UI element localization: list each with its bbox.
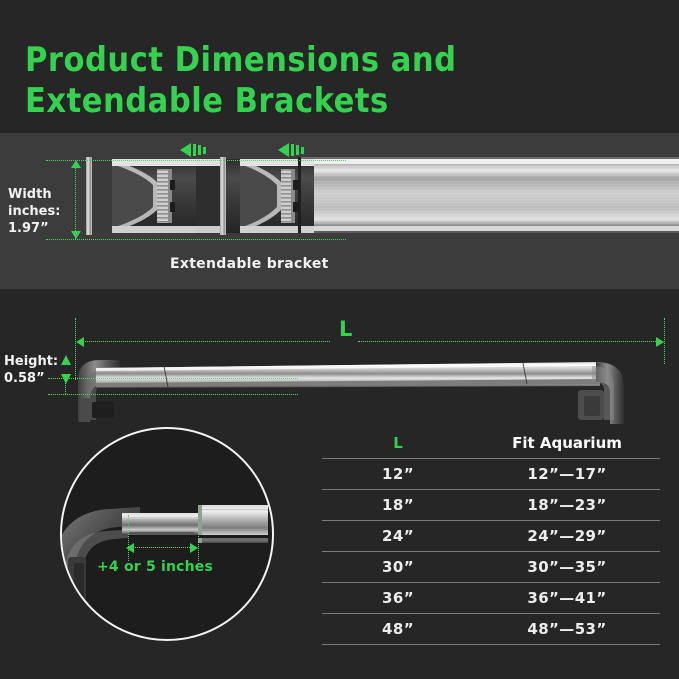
cell-length: 36” bbox=[322, 589, 474, 607]
cell-fit: 36”—41” bbox=[474, 589, 660, 607]
table-header-fit: Fit Aquarium bbox=[474, 434, 660, 452]
table-header-row: L Fit Aquarium bbox=[322, 428, 660, 458]
height-label: Height: 0.58” bbox=[4, 353, 58, 387]
table-separator bbox=[322, 644, 660, 645]
motion-bar-2 bbox=[198, 145, 201, 155]
extension-detail-illustration bbox=[62, 429, 268, 635]
cell-fit: 18”—23” bbox=[474, 496, 660, 514]
width-arrow-down-icon bbox=[71, 231, 81, 239]
table-header-length: L bbox=[322, 434, 474, 452]
motion-bar-1 bbox=[291, 144, 294, 156]
length-dimension-line-left bbox=[80, 341, 330, 342]
size-chart-table: L Fit Aquarium 12” 12”—17” 18” 18”—23” 2… bbox=[322, 428, 660, 645]
page-title-line-2: Extendable Brackets bbox=[25, 81, 645, 122]
table-row: 12” 12”—17” bbox=[322, 459, 660, 489]
triangle-left-icon bbox=[278, 143, 289, 157]
cell-length: 18” bbox=[322, 496, 474, 514]
extension-amount-caption: +4 or 5 inches bbox=[97, 559, 213, 575]
table-row: 18” 18”—23” bbox=[322, 490, 660, 520]
length-extension-right bbox=[664, 318, 665, 364]
table-row: 30” 30”—35” bbox=[322, 552, 660, 582]
cell-length: 24” bbox=[322, 527, 474, 545]
length-extension-left bbox=[75, 318, 76, 380]
width-label-line-1: Width bbox=[8, 186, 60, 203]
motion-bar-3 bbox=[301, 147, 304, 154]
table-row: 24” 24”—29” bbox=[322, 521, 660, 551]
extension-arrow-right-icon bbox=[190, 543, 198, 553]
width-arrow-up-icon bbox=[71, 160, 81, 168]
extension-arrow-left-icon bbox=[126, 543, 134, 553]
motion-bar-2 bbox=[296, 145, 299, 155]
height-label-line-1: Height: bbox=[4, 353, 58, 370]
width-label-line-2: inches: bbox=[8, 203, 60, 220]
extendable-bracket-caption: Extendable bracket bbox=[170, 256, 329, 272]
height-arrow-down-icon bbox=[61, 374, 71, 384]
triangle-left-icon bbox=[180, 143, 191, 157]
width-dimension-line bbox=[75, 160, 76, 239]
height-guide-top bbox=[48, 378, 298, 379]
height-guide-bottom bbox=[48, 394, 298, 395]
width-guide-top bbox=[46, 160, 346, 161]
slide-left-arrow-icon-2 bbox=[278, 143, 304, 157]
height-label-line-2: 0.58” bbox=[4, 370, 58, 387]
bracket-top-view-illustration bbox=[0, 133, 679, 289]
page-title-line-1: Product Dimensions and bbox=[25, 40, 645, 81]
product-dimensions-infographic: Product Dimensions and Extendable Bracke… bbox=[0, 0, 679, 679]
length-letter-label: L bbox=[339, 317, 352, 341]
height-arrow-up-icon bbox=[61, 355, 71, 365]
width-label: Width inches: 1.97” bbox=[8, 186, 60, 237]
width-label-line-3: 1.97” bbox=[8, 220, 60, 237]
extension-guide-right bbox=[198, 507, 199, 561]
page-title: Product Dimensions and Extendable Bracke… bbox=[25, 40, 645, 123]
cell-fit: 30”—35” bbox=[474, 558, 660, 576]
cell-fit: 12”—17” bbox=[474, 465, 660, 483]
motion-bar-1 bbox=[193, 144, 196, 156]
table-row: 48” 48”—53” bbox=[322, 614, 660, 644]
cell-fit: 24”—29” bbox=[474, 527, 660, 545]
extension-guide-left bbox=[128, 515, 129, 561]
motion-bar-3 bbox=[203, 147, 206, 154]
extension-detail-circle bbox=[60, 427, 274, 641]
cell-length: 48” bbox=[322, 620, 474, 638]
slide-left-arrow-icon-1 bbox=[180, 143, 206, 157]
length-arrow-left-icon bbox=[76, 337, 84, 347]
table-row: 36” 36”—41” bbox=[322, 583, 660, 613]
extension-dimension-line bbox=[132, 547, 194, 548]
cell-length: 12” bbox=[322, 465, 474, 483]
cell-fit: 48”—53” bbox=[474, 620, 660, 638]
width-guide-bottom bbox=[46, 239, 346, 240]
length-arrow-right-icon bbox=[656, 337, 664, 347]
cell-length: 30” bbox=[322, 558, 474, 576]
length-dimension-line-right bbox=[358, 341, 660, 342]
